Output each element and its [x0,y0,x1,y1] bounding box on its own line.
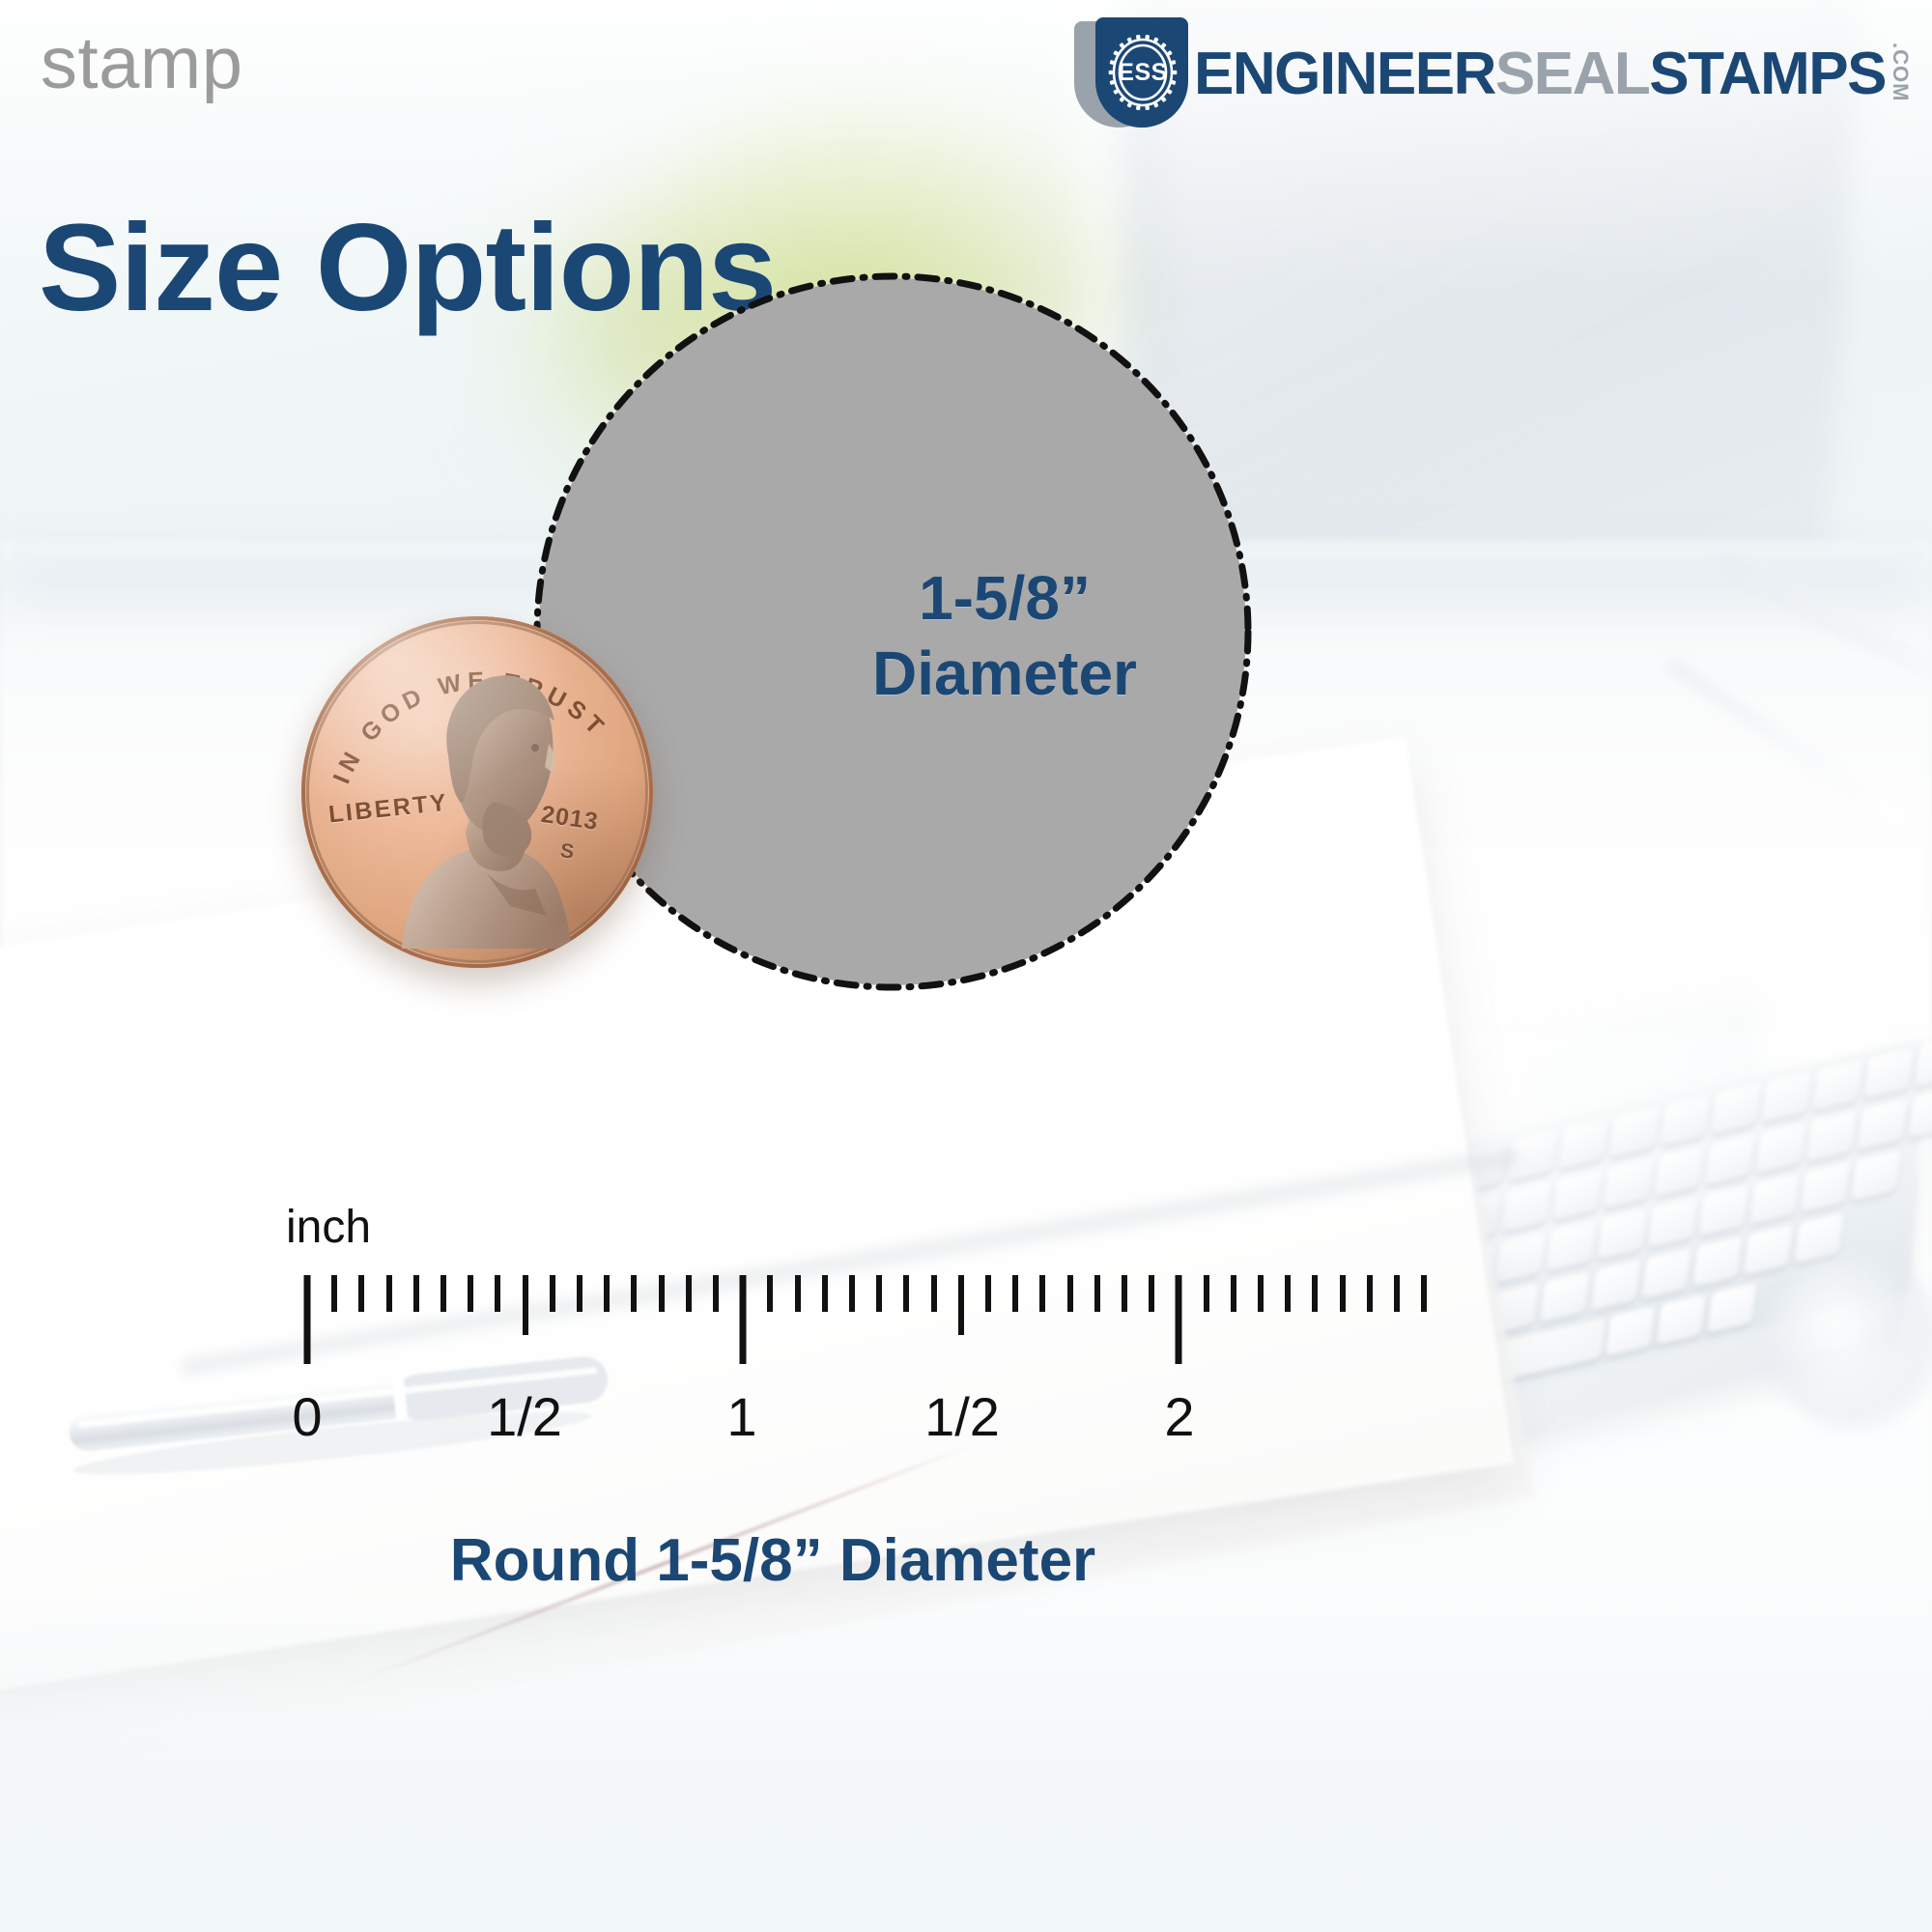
ess-shield-icon: ESS [1074,17,1188,131]
coin-shadow [413,757,653,968]
penny-coin: IN GOD WE TRUST LIBER [301,616,653,968]
size-swatch-line2: Diameter [734,636,1275,711]
ruler-label-0: 0 [292,1385,322,1448]
eyebrow-label: stamp [41,27,242,100]
size-swatch-line1: 1-5/8” [734,560,1275,636]
background-bottom-fade [0,1584,1932,1932]
ruler-unit-label: inch [286,1201,371,1254]
logo-word-engineer: ENGINEER [1194,44,1495,104]
logo-word-seal: SEAL [1495,44,1649,104]
logo-word-stamps: STAMPS [1649,44,1886,104]
ruler-label-3: 1/2 [924,1385,1000,1448]
ruler-label-2: 1 [726,1385,756,1448]
ruler-label-4: 2 [1164,1385,1194,1448]
brand-logo[interactable]: ESS ENGINEER SEAL STAMPS .COM [1074,17,1911,131]
ruler-label-1: 1/2 [487,1385,562,1448]
size-swatch-label: 1-5/8” Diameter [734,560,1275,711]
logo-wordmark: ENGINEER SEAL STAMPS .COM [1194,44,1911,104]
stylus-pen [39,1294,696,1488]
background-clip-blur [1768,1256,1932,1430]
bottom-caption: Round 1-5/8” Diameter [0,1526,1546,1595]
logo-word-com: .COM [1889,43,1911,101]
ess-monogram: ESS [1107,33,1179,112]
page-title: Size Options [39,204,776,333]
